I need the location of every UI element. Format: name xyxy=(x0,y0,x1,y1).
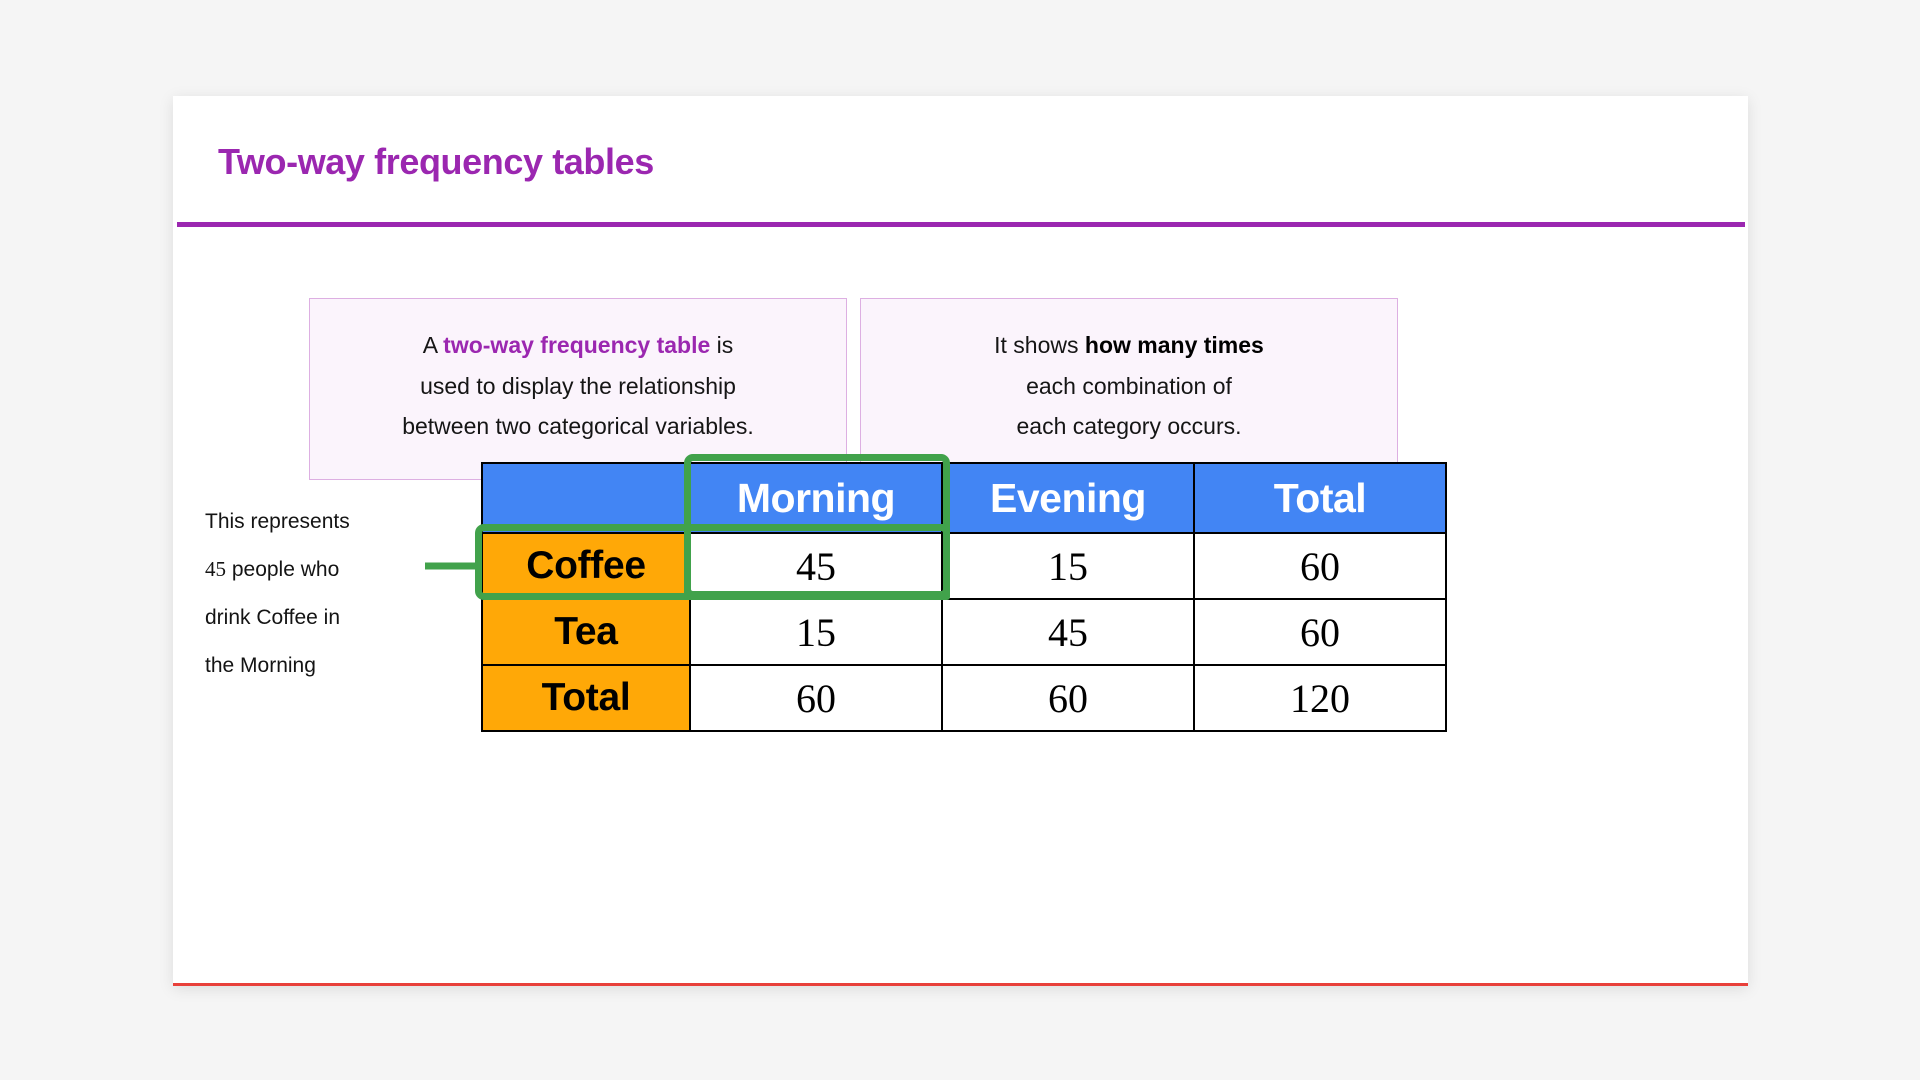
slide-card: Two-way frequency tables A two-way frequ… xyxy=(173,96,1748,986)
annotation-line2-rest: people who xyxy=(226,558,339,581)
callout-purpose: It shows how many times each combination… xyxy=(860,298,1398,480)
callout-definition-line1-pre: A xyxy=(423,332,443,358)
cell-total-grand: 120 xyxy=(1194,665,1446,731)
table-header-row: Morning Evening Total xyxy=(482,463,1446,533)
annotation-line-1: This represents xyxy=(205,498,415,546)
callout-definition-line-1: A two-way frequency table is xyxy=(330,325,826,366)
column-header-morning: Morning xyxy=(690,463,942,533)
page-title: Two-way frequency tables xyxy=(218,141,654,183)
table-row: Tea 15 45 60 xyxy=(482,599,1446,665)
table-row: Coffee 45 15 60 xyxy=(482,533,1446,599)
two-way-frequency-table: Morning Evening Total Coffee 45 15 60 Te… xyxy=(481,462,1447,732)
cell-tea-morning: 15 xyxy=(690,599,942,665)
cell-tea-evening: 45 xyxy=(942,599,1194,665)
column-header-evening: Evening xyxy=(942,463,1194,533)
table-corner-cell xyxy=(482,463,690,533)
cell-coffee-morning: 45 xyxy=(690,533,942,599)
annotation-line-3: drink Coffee in xyxy=(205,594,415,642)
table-row: Total 60 60 120 xyxy=(482,665,1446,731)
annotation-text: This represents 45 people who drink Coff… xyxy=(205,498,415,690)
callout-definition-line1-post: is xyxy=(710,332,733,358)
callout-purpose-highlight: how many times xyxy=(1085,332,1264,358)
title-divider xyxy=(177,222,1745,227)
cell-coffee-total: 60 xyxy=(1194,533,1446,599)
callout-definition-highlight: two-way frequency table xyxy=(443,332,710,358)
cell-total-morning: 60 xyxy=(690,665,942,731)
annotation-line-4: the Morning xyxy=(205,642,415,690)
callout-purpose-line1-pre: It shows xyxy=(994,332,1085,358)
annotation-line-2: 45 people who xyxy=(205,546,415,594)
callout-purpose-line-1: It shows how many times xyxy=(881,325,1377,366)
annotation-number: 45 xyxy=(205,557,226,581)
cell-total-evening: 60 xyxy=(942,665,1194,731)
row-label-coffee: Coffee xyxy=(482,533,690,599)
column-header-total: Total xyxy=(1194,463,1446,533)
callout-definition-line-3: between two categorical variables. xyxy=(330,406,826,447)
row-label-total: Total xyxy=(482,665,690,731)
callout-purpose-line-2: each combination of xyxy=(881,366,1377,407)
row-label-tea: Tea xyxy=(482,599,690,665)
card-bottom-rule xyxy=(173,983,1748,986)
cell-coffee-evening: 15 xyxy=(942,533,1194,599)
cell-tea-total: 60 xyxy=(1194,599,1446,665)
callout-definition: A two-way frequency table is used to dis… xyxy=(309,298,847,480)
callout-definition-line-2: used to display the relationship xyxy=(330,366,826,407)
callout-purpose-line-3: each category occurs. xyxy=(881,406,1377,447)
